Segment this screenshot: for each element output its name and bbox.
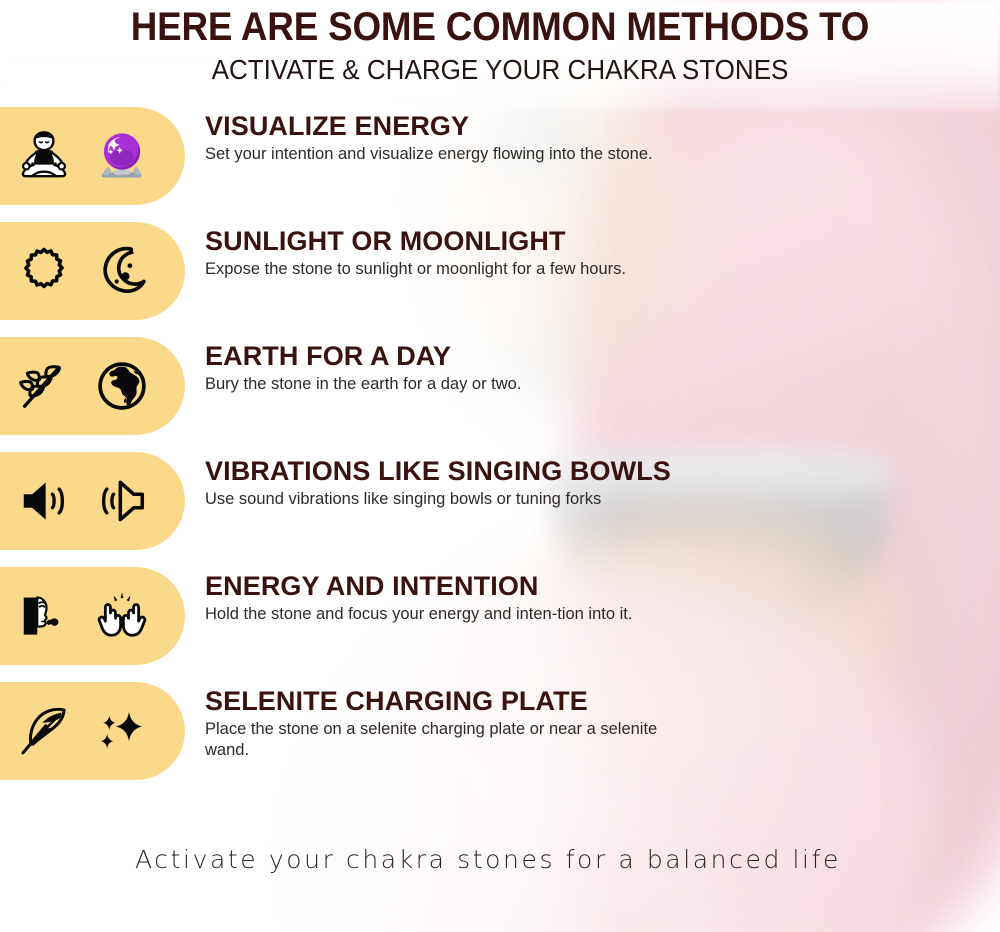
- footer-tagline: Activate your chakra stones for a balanc…: [135, 845, 865, 874]
- method-text: VISUALIZE ENERGY Set your intention and …: [205, 111, 990, 165]
- method-title: EARTH FOR A DAY: [205, 341, 990, 371]
- method-text: SELENITE CHARGING PLATE Place the stone …: [205, 686, 990, 761]
- method-row: SELENITE CHARGING PLATE Place the stone …: [0, 674, 1000, 789]
- icon-pill: [0, 452, 185, 550]
- footer: Activate your chakra stones for a balanc…: [0, 845, 1000, 874]
- method-title: SELENITE CHARGING PLATE: [205, 686, 990, 716]
- method-title: SUNLIGHT OR MOONLIGHT: [205, 226, 990, 256]
- face-blowing-icon: [12, 584, 76, 648]
- method-description: Use sound vibrations like singing bowls …: [205, 489, 655, 510]
- feather-quill-icon: [12, 699, 76, 763]
- method-text: VIBRATIONS LIKE SINGING BOWLS Use sound …: [205, 456, 990, 510]
- method-title: VISUALIZE ENERGY: [205, 111, 990, 141]
- page-subtitle: ACTIVATE & CHARGE YOUR CHAKRA STONES: [35, 53, 965, 87]
- method-title: VIBRATIONS LIKE SINGING BOWLS: [205, 456, 990, 486]
- leaf-branch-icon: [12, 354, 76, 418]
- methods-list: VISUALIZE ENERGY Set your intention and …: [0, 99, 1000, 789]
- person-in-lotus-position-icon: [12, 124, 76, 188]
- method-description: Set your intention and visualize energy …: [205, 144, 675, 165]
- sparkles-icon: [90, 699, 154, 763]
- method-description: Hold the stone and focus your energy and…: [205, 604, 675, 625]
- icon-pill: [0, 337, 185, 435]
- method-text: EARTH FOR A DAY Bury the stone in the ea…: [205, 341, 990, 395]
- method-row: VISUALIZE ENERGY Set your intention and …: [0, 99, 1000, 214]
- speaker-sound-mirrored-icon: [90, 469, 154, 533]
- raised-hands-icon: [90, 584, 154, 648]
- method-row: ENERGY AND INTENTION Hold the stone and …: [0, 559, 1000, 674]
- method-row: SUNLIGHT OR MOONLIGHT Expose the stone t…: [0, 214, 1000, 329]
- method-description: Bury the stone in the earth for a day or…: [205, 374, 675, 395]
- icon-pill: [0, 682, 185, 780]
- method-title: ENERGY AND INTENTION: [205, 571, 990, 601]
- icon-pill: [0, 107, 185, 205]
- crescent-moon-icon: [90, 239, 154, 303]
- method-description: Place the stone on a selenite charging p…: [205, 719, 675, 761]
- method-text: SUNLIGHT OR MOONLIGHT Expose the stone t…: [205, 226, 990, 280]
- method-row: VIBRATIONS LIKE SINGING BOWLS Use sound …: [0, 444, 1000, 559]
- speaker-sound-icon: [12, 469, 76, 533]
- sun-icon: [12, 239, 76, 303]
- method-row: EARTH FOR A DAY Bury the stone in the ea…: [0, 329, 1000, 444]
- infographic-content: HERE ARE SOME COMMON METHODS TO ACTIVATE…: [0, 0, 1000, 932]
- header: HERE ARE SOME COMMON METHODS TO ACTIVATE…: [0, 0, 1000, 87]
- icon-pill: [0, 222, 185, 320]
- method-text: ENERGY AND INTENTION Hold the stone and …: [205, 571, 990, 625]
- globe-icon: [90, 354, 154, 418]
- icon-pill: [0, 567, 185, 665]
- page-title: HERE ARE SOME COMMON METHODS TO: [40, 6, 960, 48]
- crystal-ball-icon: [90, 124, 154, 188]
- method-description: Expose the stone to sunlight or moonligh…: [205, 259, 675, 280]
